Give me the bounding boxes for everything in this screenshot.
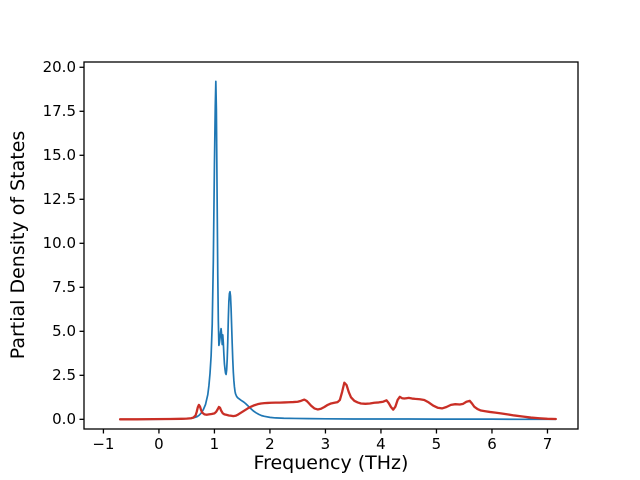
y-tick-label: 10.0 <box>43 234 76 252</box>
y-tick-label: 7.5 <box>52 278 76 296</box>
x-tick-label: 6 <box>487 435 497 453</box>
y-tick-label: 5.0 <box>52 322 76 340</box>
x-tick-label: 3 <box>321 435 331 453</box>
plot-background <box>84 62 578 429</box>
y-tick-label: 0.0 <box>52 410 76 428</box>
figure-canvas: −101234567 0.02.55.07.510.012.515.017.52… <box>0 0 640 480</box>
x-tick-label: −1 <box>92 435 114 453</box>
y-tick-label: 15.0 <box>43 146 76 164</box>
plot-area <box>84 62 578 429</box>
y-tick-label: 12.5 <box>43 190 76 208</box>
y-tick-label: 20.0 <box>43 58 76 76</box>
x-axis-ticks: −101234567 <box>92 429 552 453</box>
y-axis-ticks: 0.02.55.07.510.012.515.017.520.0 <box>43 58 84 428</box>
x-tick-label: 1 <box>210 435 220 453</box>
y-tick-label: 2.5 <box>52 366 76 384</box>
y-tick-label: 17.5 <box>43 102 76 120</box>
x-tick-label: 5 <box>432 435 442 453</box>
x-tick-label: 4 <box>376 435 386 453</box>
y-axis-title: Partial Density of States <box>7 131 29 360</box>
x-tick-label: 7 <box>543 435 553 453</box>
x-tick-label: 0 <box>154 435 164 453</box>
x-axis-title: Frequency (THz) <box>254 452 409 474</box>
pdos-chart: −101234567 0.02.55.07.510.012.515.017.52… <box>0 0 640 480</box>
x-tick-label: 2 <box>265 435 275 453</box>
